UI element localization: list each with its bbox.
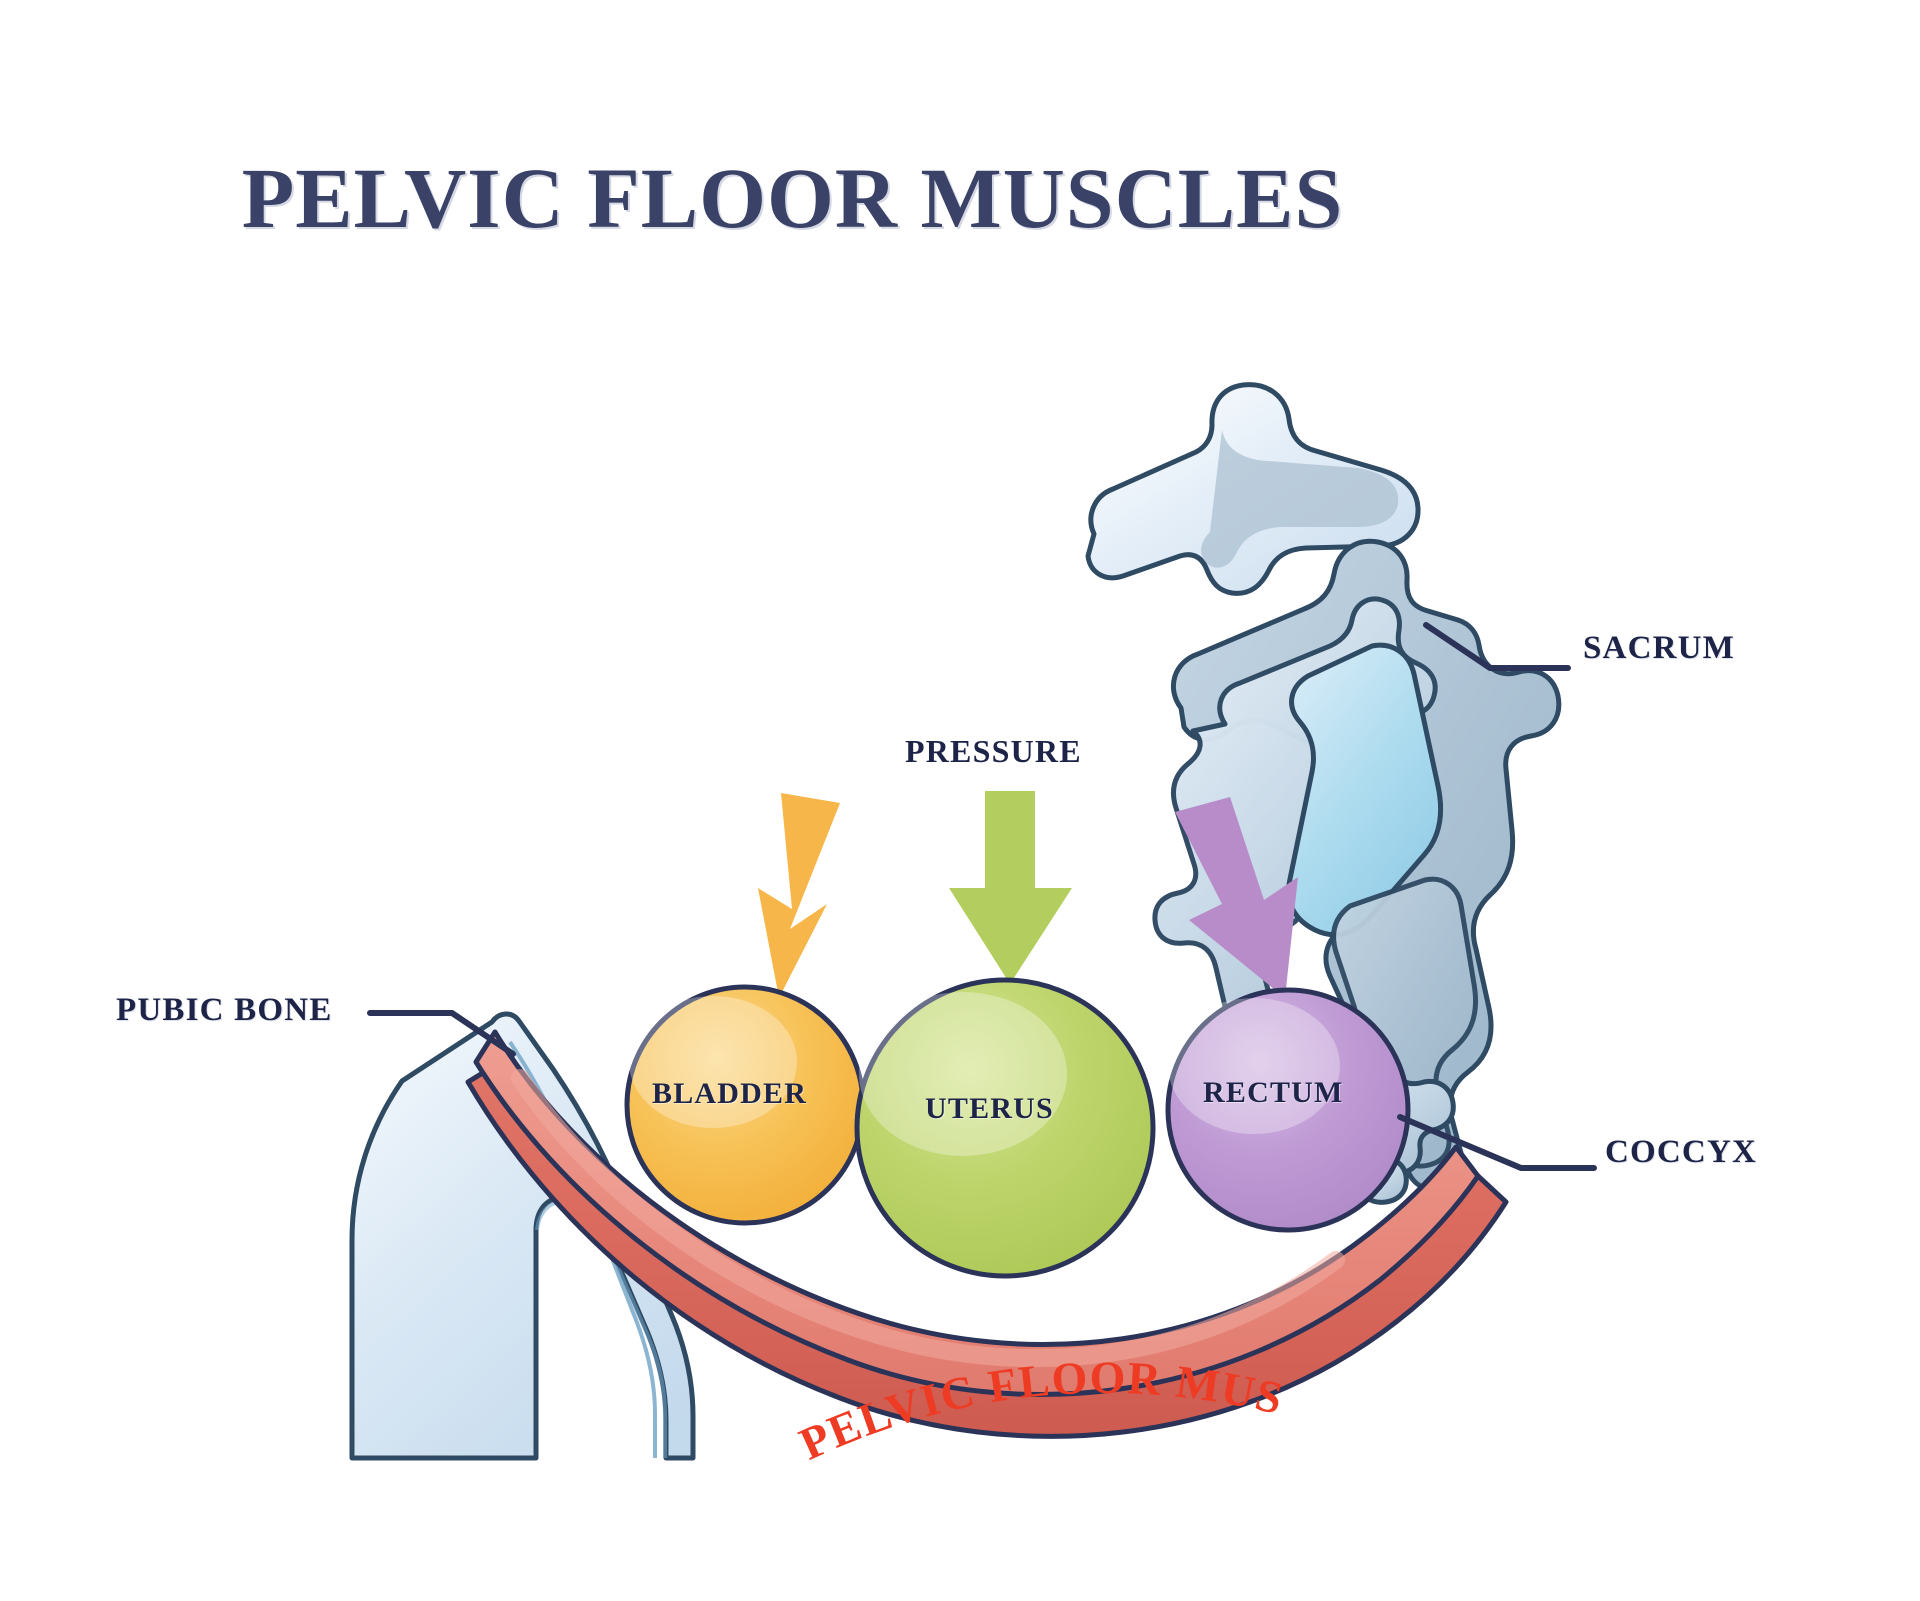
label-pubic-bone: PUBIC BONE	[116, 992, 332, 1029]
diagram-canvas: PELVIC FLOOR MUSCLES PELVIC FLOOR MUSCLE…	[0, 0, 1920, 1601]
pressure-arrow-bladder-icon	[758, 793, 840, 998]
label-uterus: UTERUS	[925, 1092, 1054, 1126]
organ-uterus-highlight	[859, 992, 1067, 1156]
label-sacrum: SACRUM	[1583, 630, 1735, 667]
pressure-arrow-uterus-icon	[949, 791, 1072, 984]
label-bladder: BLADDER	[652, 1077, 807, 1111]
label-pressure: PRESSURE	[905, 733, 1082, 770]
organs-group	[627, 980, 1408, 1276]
label-rectum: RECTUM	[1203, 1076, 1344, 1110]
page-title: PELVIC FLOOR MUSCLES	[0, 148, 1585, 248]
label-coccyx: COCCYX	[1605, 1134, 1757, 1171]
organ-rectum-highlight	[1168, 998, 1340, 1134]
